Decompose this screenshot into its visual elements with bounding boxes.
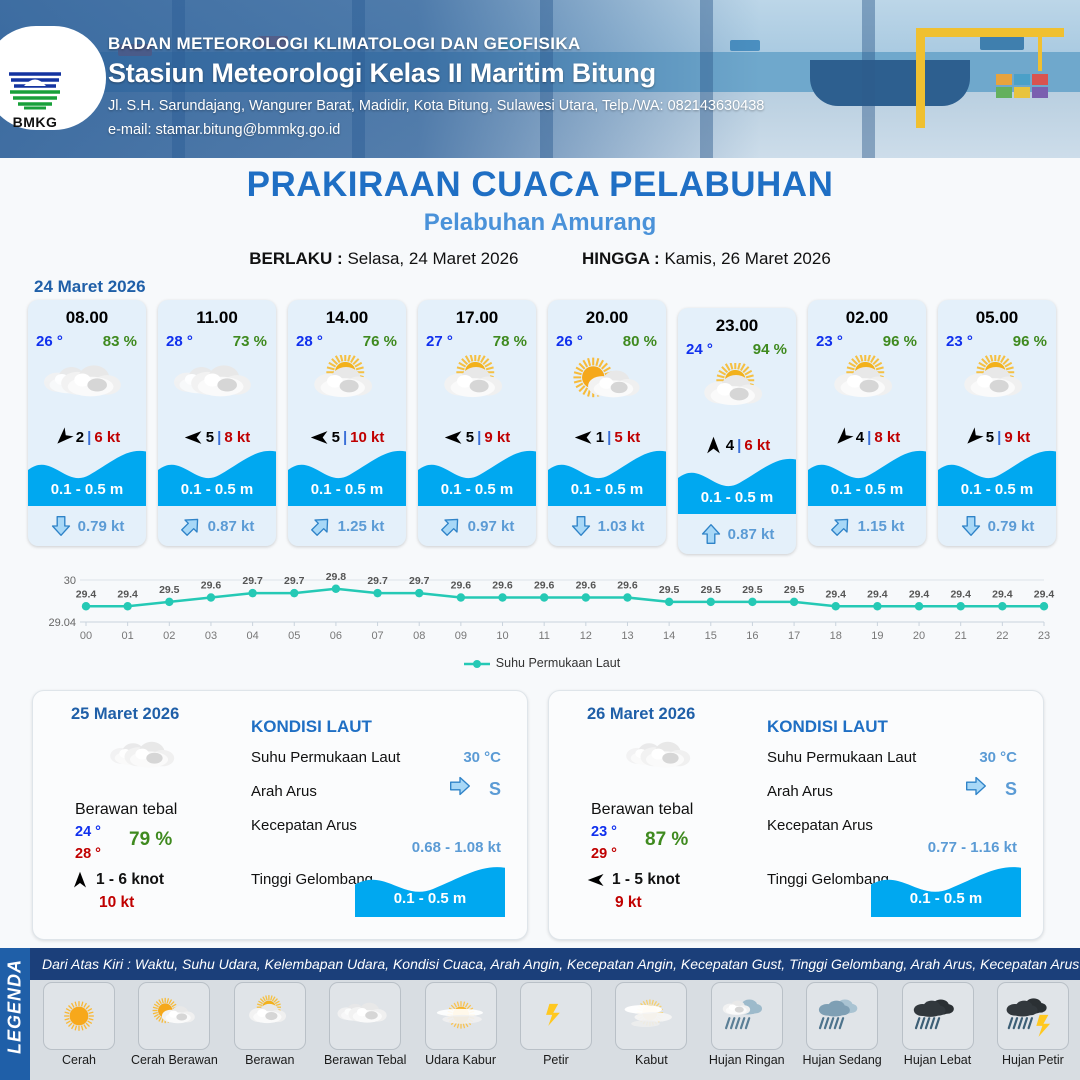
legend-icon-cerah — [43, 982, 115, 1050]
svg-text:29.6: 29.6 — [201, 580, 222, 592]
day-gust: 10 kt — [99, 894, 134, 912]
forecast-card[interactable]: 17.0027 °78 % 5|9 kt0.1 - 0.5 m 0.97 kt — [418, 300, 536, 546]
crane-mast — [916, 28, 925, 128]
legend-section: LEGENDA Dari Atas Kiri : Waktu, Suhu Uda… — [0, 948, 1080, 1080]
legend-item: Petir — [511, 982, 601, 1078]
svg-text:29.4: 29.4 — [992, 588, 1013, 600]
svg-text:29.4: 29.4 — [1034, 588, 1055, 600]
svg-text:06: 06 — [330, 630, 342, 642]
wave-shape-icon — [28, 444, 146, 511]
day-humidity: 87 % — [645, 829, 688, 851]
card-wave: 0.1 - 0.5 m — [808, 444, 926, 506]
weather-icon-berawan — [678, 363, 796, 425]
day-wind-range: 1 - 5 knot — [612, 871, 680, 889]
svg-text:17: 17 — [788, 630, 800, 642]
container-stack — [1014, 74, 1030, 85]
svg-text:16: 16 — [746, 630, 758, 642]
card-humidity: 76 % — [363, 333, 397, 350]
card-current: 0.79 kt — [938, 512, 1056, 540]
legend-icon-cerah-berawan — [138, 982, 210, 1050]
current-direction-arrow-icon — [310, 515, 332, 537]
card-humidity: 80 % — [623, 333, 657, 350]
card-wave: 0.1 - 0.5 m — [158, 444, 276, 506]
svg-text:18: 18 — [830, 630, 842, 642]
svg-text:30: 30 — [64, 575, 76, 587]
day-temp-max: 29 ° — [591, 846, 617, 862]
wind-separator: | — [867, 429, 871, 446]
legend-icon-udara-kabur — [425, 982, 497, 1050]
container-stack — [1032, 87, 1048, 98]
valid-to-value: Kamis, 26 Maret 2026 — [664, 249, 830, 268]
card-humidity: 96 % — [1013, 333, 1047, 350]
svg-text:01: 01 — [122, 630, 134, 642]
legend-item: Berawan — [225, 982, 315, 1078]
current-direction-label: Arah Arus — [251, 783, 317, 800]
current-direction-arrow-icon — [180, 515, 202, 537]
legend-icon-hujan-sedang — [806, 982, 878, 1050]
card-humidity: 78 % — [493, 333, 527, 350]
sea-conditions-title: KONDISI LAUT — [767, 717, 888, 737]
svg-text:29.6: 29.6 — [617, 580, 638, 592]
legend-note: Dari Atas Kiri : Waktu, Suhu Udara, Kele… — [42, 956, 1079, 972]
cargo-ship-large — [810, 60, 970, 106]
bmkg-logo-badge: BMKG — [0, 26, 106, 130]
day-condition: Berawan tebal — [591, 801, 693, 819]
gust-speed: 6 kt — [94, 429, 120, 446]
wave-height: 0.1 - 0.5 m — [418, 481, 536, 498]
legend-item: Hujan Petir — [988, 982, 1078, 1078]
card-time: 14.00 — [288, 308, 406, 328]
station-name: Stasiun Meteorologi Kelas II Maritim Bit… — [108, 58, 656, 89]
svg-text:29.4: 29.4 — [909, 588, 930, 600]
svg-text:19: 19 — [871, 630, 883, 642]
legend-item-label: Hujan Ringan — [702, 1053, 792, 1067]
wind-separator: | — [343, 429, 347, 446]
legend-tab-label: LEGENDA — [5, 955, 26, 1059]
current-speed: 0.79 kt — [78, 518, 125, 535]
day-temp-min: 24 ° — [75, 824, 101, 840]
current-direction-arrow-icon — [700, 523, 722, 545]
sst-chart-plot: 3029.0429.40029.40129.50229.60329.70429.… — [28, 560, 1056, 652]
current-speed-label: Kecepatan Arus — [251, 817, 357, 834]
legend-item: Kabut — [606, 982, 696, 1078]
current-speed: 0.79 kt — [988, 518, 1035, 535]
current-direction-value: S — [489, 779, 501, 800]
current-speed: 0.87 kt — [728, 526, 775, 543]
container-stack — [996, 87, 1012, 98]
weather-icon-berawan — [938, 355, 1056, 417]
wave-shape-icon — [808, 444, 926, 511]
day-gust: 9 kt — [615, 894, 642, 912]
card-temperature: 28 ° — [296, 333, 323, 350]
card-current: 0.79 kt — [28, 512, 146, 540]
wave-shape-icon — [548, 444, 666, 511]
day-date: 25 Maret 2026 — [71, 705, 179, 724]
wave-shape-icon — [418, 444, 536, 511]
svg-text:00: 00 — [80, 630, 92, 642]
weather-icon-berawan-tebal — [28, 355, 146, 417]
svg-text:29.6: 29.6 — [451, 580, 472, 592]
svg-text:03: 03 — [205, 630, 217, 642]
svg-text:29.6: 29.6 — [576, 580, 597, 592]
svg-text:29.5: 29.5 — [742, 584, 763, 596]
svg-text:29.4: 29.4 — [117, 588, 138, 600]
card-temperature: 27 ° — [426, 333, 453, 350]
wave-shape-icon — [678, 452, 796, 519]
card-temperature: 23 ° — [946, 333, 973, 350]
station-email: e-mail: stamar.bitung@bmmkg.go.id — [108, 122, 340, 138]
current-speed-value: 0.77 - 1.16 kt — [928, 839, 1017, 856]
wind-speed: 5 — [332, 429, 340, 446]
svg-text:29.04: 29.04 — [48, 617, 76, 629]
card-temperature: 28 ° — [166, 333, 193, 350]
svg-text:09: 09 — [455, 630, 467, 642]
legend-item: Berawan Tebal — [320, 982, 410, 1078]
weather-icon-berawan-tebal — [158, 355, 276, 417]
weather-icon-berawan-tebal — [103, 733, 189, 785]
card-temperature: 26 ° — [556, 333, 583, 350]
legend-item-label: Hujan Lebat — [893, 1053, 983, 1067]
sea-conditions-title: KONDISI LAUT — [251, 717, 372, 737]
card-current: 1.25 kt — [288, 512, 406, 540]
wind-separator: | — [737, 437, 741, 454]
legend-item: Hujan Lebat — [893, 982, 983, 1078]
current-direction-arrow-icon — [960, 515, 982, 537]
page-header: BMKG BADAN METEOROLOGI KLIMATOLOGI DAN G… — [0, 0, 1080, 158]
validity-row: BERLAKU : Selasa, 24 Maret 2026 HINGGA :… — [0, 249, 1080, 269]
wave-height: 0.1 - 0.5 m — [28, 481, 146, 498]
wind-separator: | — [997, 429, 1001, 446]
legend-item: Cerah Berawan — [129, 982, 219, 1078]
weather-icon-cerah-berawan — [548, 355, 666, 417]
svg-text:29.8: 29.8 — [326, 571, 347, 583]
wind-speed: 5 — [986, 429, 994, 446]
legend-icon-berawan-tebal — [329, 982, 401, 1050]
ship-illustration — [980, 36, 1024, 50]
current-direction-label: Arah Arus — [767, 783, 833, 800]
chart-legend-label: Suhu Permukaan Laut — [496, 656, 620, 670]
gust-speed: 8 kt — [224, 429, 250, 446]
card-humidity: 73 % — [233, 333, 267, 350]
day-humidity: 79 % — [129, 829, 172, 851]
card-temperature: 24 ° — [686, 341, 713, 358]
svg-text:02: 02 — [163, 630, 175, 642]
title-block: PRAKIRAAN CUACA PELABUHAN Pelabuhan Amur… — [0, 165, 1080, 269]
svg-text:29.7: 29.7 — [242, 575, 263, 587]
svg-text:29.4: 29.4 — [950, 588, 971, 600]
wave-height: 0.1 - 0.5 m — [678, 489, 796, 506]
svg-text:29.6: 29.6 — [492, 580, 513, 592]
valid-to-label: HINGGA : — [582, 249, 660, 268]
sst-chart: 3029.0429.40029.40129.50229.60329.70429.… — [28, 560, 1056, 690]
wave-height: 0.1 - 0.5 m — [548, 481, 666, 498]
wind-separator: | — [607, 429, 611, 446]
legend-item-label: Kabut — [606, 1053, 696, 1067]
legend-icon-hujan-ringan — [711, 982, 783, 1050]
forecast-card[interactable]: 05.0023 °96 % 5|9 kt0.1 - 0.5 m 0.79 kt — [938, 300, 1056, 546]
card-current: 0.87 kt — [678, 520, 796, 548]
forecast-card[interactable]: 11.0028 °73 % 5|8 kt0.1 - 0.5 m 0.87 kt — [158, 300, 276, 546]
wave-height: 0.1 - 0.5 m — [808, 481, 926, 498]
svg-text:29.6: 29.6 — [534, 580, 555, 592]
current-direction-value: S — [1005, 779, 1017, 800]
legend-tab: LEGENDA — [0, 948, 30, 1080]
chart-legend: Suhu Permukaan Laut — [28, 656, 1056, 670]
legend-icon-kabut — [615, 982, 687, 1050]
card-time: 08.00 — [28, 308, 146, 328]
card-time: 11.00 — [158, 308, 276, 328]
current-direction-arrow-icon — [965, 775, 987, 802]
current-direction-arrow-icon — [830, 515, 852, 537]
current-speed: 0.97 kt — [468, 518, 515, 535]
svg-text:29.7: 29.7 — [367, 575, 388, 587]
hourly-forecast-cards: 08.0026 °83 % 2|6 kt0.1 - 0.5 m 0.79 kt1… — [28, 300, 1056, 550]
wind-speed: 4 — [856, 429, 864, 446]
legend-item: Udara Kabur — [416, 982, 506, 1078]
sst-value: 30 °C — [979, 749, 1017, 766]
card-wave: 0.1 - 0.5 m — [288, 444, 406, 506]
card-time: 23.00 — [678, 316, 796, 336]
agency-name: BADAN METEOROLOGI KLIMATOLOGI DAN GEOFIS… — [108, 34, 581, 54]
card-wave: 0.1 - 0.5 m — [678, 452, 796, 514]
card-current: 0.97 kt — [418, 512, 536, 540]
card-time: 02.00 — [808, 308, 926, 328]
legend-icon-hujan-lebat — [902, 982, 974, 1050]
wave-shape-icon — [938, 444, 1056, 511]
card-current: 1.03 kt — [548, 512, 666, 540]
svg-text:23: 23 — [1038, 630, 1050, 642]
day-panel-25: 25 Maret 2026 Berawan tebal24 °28 °79 % … — [32, 690, 528, 940]
sst-value: 30 °C — [463, 749, 501, 766]
card-wave: 0.1 - 0.5 m — [938, 444, 1056, 506]
svg-text:04: 04 — [246, 630, 258, 642]
legend-item-label: Hujan Sedang — [797, 1053, 887, 1067]
wind-speed: 5 — [466, 429, 474, 446]
legend-item-label: Petir — [511, 1053, 601, 1067]
weather-icon-berawan — [288, 355, 406, 417]
svg-text:29.7: 29.7 — [284, 575, 305, 587]
valid-from-value: Selasa, 24 Maret 2026 — [347, 249, 518, 268]
card-humidity: 83 % — [103, 333, 137, 350]
legend-note-bar: Dari Atas Kiri : Waktu, Suhu Udara, Kele… — [30, 948, 1080, 980]
forecast-date-label: 24 Maret 2026 — [34, 277, 146, 297]
legend-item-label: Berawan — [225, 1053, 315, 1067]
wind-speed: 2 — [76, 429, 84, 446]
svg-text:20: 20 — [913, 630, 925, 642]
card-humidity: 96 % — [883, 333, 917, 350]
current-direction-arrow-icon — [449, 775, 471, 802]
forecast-card[interactable]: 14.0028 °76 % 5|10 kt0.1 - 0.5 m 1.25 kt — [288, 300, 406, 546]
container-stack — [996, 74, 1012, 85]
forecast-card[interactable]: 02.0023 °96 % 4|8 kt0.1 - 0.5 m 1.15 kt — [808, 300, 926, 546]
svg-text:15: 15 — [705, 630, 717, 642]
svg-text:21: 21 — [955, 630, 967, 642]
day-wave-value: 0.1 - 0.5 m — [871, 890, 1021, 907]
legend-item: Hujan Sedang — [797, 982, 887, 1078]
legend-icon-petir — [520, 982, 592, 1050]
card-wave: 0.1 - 0.5 m — [418, 444, 536, 506]
wind-speed: 5 — [206, 429, 214, 446]
legend-item: Hujan Ringan — [702, 982, 792, 1078]
svg-text:07: 07 — [371, 630, 383, 642]
card-temperature: 23 ° — [816, 333, 843, 350]
container-stack — [1014, 87, 1030, 98]
page-title: PRAKIRAAN CUACA PELABUHAN — [0, 165, 1080, 205]
gust-speed: 9 kt — [1004, 429, 1030, 446]
legend-icon-list: Cerah Cerah Berawan Berawan — [34, 982, 1078, 1078]
sst-label: Suhu Permukaan Laut — [767, 749, 916, 766]
current-speed-value: 0.68 - 1.08 kt — [412, 839, 501, 856]
svg-text:11: 11 — [538, 630, 549, 642]
forecast-card[interactable]: 08.0026 °83 % 2|6 kt0.1 - 0.5 m 0.79 kt — [28, 300, 146, 546]
wind-speed: 4 — [726, 437, 734, 454]
card-temperature: 26 ° — [36, 333, 63, 350]
legend-item-label: Udara Kabur — [416, 1053, 506, 1067]
card-wave: 0.1 - 0.5 m — [548, 444, 666, 506]
legend-icon-berawan — [234, 982, 306, 1050]
day-wind: 1 - 6 knot — [71, 871, 164, 889]
svg-text:29.5: 29.5 — [159, 584, 180, 596]
card-current: 0.87 kt — [158, 512, 276, 540]
chart-legend-swatch — [464, 659, 490, 668]
forecast-card[interactable]: 23.0024 °94 % 4|6 kt0.1 - 0.5 m 0.87 kt — [678, 308, 796, 554]
day-date: 26 Maret 2026 — [587, 705, 695, 724]
container-stack — [1032, 74, 1048, 85]
svg-text:29.4: 29.4 — [826, 588, 847, 600]
forecast-card[interactable]: 20.0026 °80 % 1|5 kt0.1 - 0.5 m 1.03 kt — [548, 300, 666, 546]
svg-text:22: 22 — [996, 630, 1008, 642]
gust-speed: 5 kt — [614, 429, 640, 446]
svg-text:29.7: 29.7 — [409, 575, 430, 587]
legend-item-label: Cerah Berawan — [129, 1053, 219, 1067]
current-speed: 0.87 kt — [208, 518, 255, 535]
day-panel-26: 26 Maret 2026 Berawan tebal23 °29 °87 % … — [548, 690, 1044, 940]
gust-speed: 9 kt — [484, 429, 510, 446]
weather-icon-berawan — [418, 355, 536, 417]
current-direction-arrow-icon — [570, 515, 592, 537]
day-wind-range: 1 - 6 knot — [96, 871, 164, 889]
svg-text:08: 08 — [413, 630, 425, 642]
legend-item: Cerah — [34, 982, 124, 1078]
port-name: Pelabuhan Amurang — [0, 209, 1080, 237]
wind-speed: 1 — [596, 429, 604, 446]
wind-separator: | — [87, 429, 91, 446]
day-temp-max: 28 ° — [75, 846, 101, 862]
day-wave: 0.1 - 0.5 m — [871, 861, 1021, 917]
bmkg-logo-icon — [6, 60, 64, 112]
card-time: 17.00 — [418, 308, 536, 328]
legend-item-label: Hujan Petir — [988, 1053, 1078, 1067]
wave-height: 0.1 - 0.5 m — [158, 481, 276, 498]
day-temp-min: 23 ° — [591, 824, 617, 840]
wave-shape-icon — [288, 444, 406, 511]
day-condition: Berawan tebal — [75, 801, 177, 819]
sst-label: Suhu Permukaan Laut — [251, 749, 400, 766]
svg-text:29.5: 29.5 — [784, 584, 805, 596]
svg-text:10: 10 — [496, 630, 508, 642]
current-direction-arrow-icon — [50, 515, 72, 537]
weather-icon-berawan-tebal — [619, 733, 705, 785]
svg-text:29.5: 29.5 — [701, 584, 722, 596]
day-wind: 1 - 5 knot — [587, 871, 680, 889]
gust-speed: 6 kt — [744, 437, 770, 454]
svg-text:29.4: 29.4 — [76, 588, 97, 600]
gust-speed: 10 kt — [350, 429, 384, 446]
svg-text:29.4: 29.4 — [867, 588, 888, 600]
current-direction-arrow-icon — [440, 515, 462, 537]
wind-separator: | — [217, 429, 221, 446]
card-time: 05.00 — [938, 308, 1056, 328]
gust-speed: 8 kt — [874, 429, 900, 446]
wave-height: 0.1 - 0.5 m — [288, 481, 406, 498]
current-speed-label: Kecepatan Arus — [767, 817, 873, 834]
card-humidity: 94 % — [753, 341, 787, 358]
current-speed: 1.25 kt — [338, 518, 385, 535]
svg-text:13: 13 — [621, 630, 633, 642]
day-wave-value: 0.1 - 0.5 m — [355, 890, 505, 907]
legend-item-label: Cerah — [34, 1053, 124, 1067]
wave-shape-icon — [158, 444, 276, 511]
bmkg-logo-text: BMKG — [4, 114, 66, 130]
valid-from-label: BERLAKU : — [249, 249, 343, 268]
wind-direction-arrow-icon — [587, 871, 605, 889]
legend-item-label: Berawan Tebal — [320, 1053, 410, 1067]
day-wave: 0.1 - 0.5 m — [355, 861, 505, 917]
card-wave: 0.1 - 0.5 m — [28, 444, 146, 506]
current-speed: 1.03 kt — [598, 518, 645, 535]
wind-direction-arrow-icon — [71, 871, 89, 889]
station-address: Jl. S.H. Sarundajang, Wangurer Barat, Ma… — [108, 98, 764, 114]
crane-arm — [916, 28, 1064, 37]
svg-text:12: 12 — [580, 630, 592, 642]
card-current: 1.15 kt — [808, 512, 926, 540]
legend-icon-hujan-petir — [997, 982, 1069, 1050]
wind-separator: | — [477, 429, 481, 446]
svg-text:05: 05 — [288, 630, 300, 642]
window-mullion — [862, 0, 875, 158]
weather-icon-berawan — [808, 355, 926, 417]
svg-text:29.5: 29.5 — [659, 584, 680, 596]
current-speed: 1.15 kt — [858, 518, 905, 535]
wave-height: 0.1 - 0.5 m — [938, 481, 1056, 498]
crane-hook-line — [1038, 37, 1042, 71]
svg-text:14: 14 — [663, 630, 675, 642]
card-time: 20.00 — [548, 308, 666, 328]
